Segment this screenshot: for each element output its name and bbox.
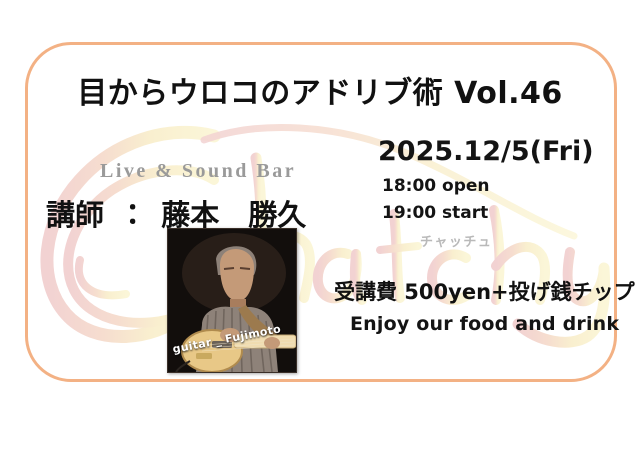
brand-kana-label: チャッチュ xyxy=(420,231,492,250)
venue-tagline: Live & Sound Bar xyxy=(100,160,296,183)
start-time: 19:00 start xyxy=(382,203,488,223)
fee-text: 受講費 500yen+投げ銭チップ xyxy=(334,276,635,306)
lecturer-name: 藤本 勝久 xyxy=(161,198,306,232)
event-date: 2025.12/5(Fri) xyxy=(378,136,594,167)
enjoy-text: Enjoy our food and drink xyxy=(350,313,619,335)
flyer-canvas: 目からウロコのアドリブ術 Vol.46 Live & Sound Bar 講師 … xyxy=(0,0,640,452)
page-title: 目からウロコのアドリブ術 Vol.46 xyxy=(0,68,640,112)
lecturer-label: 講師 xyxy=(46,198,104,232)
open-time: 18:00 open xyxy=(382,176,490,196)
lecturer-separator: ： xyxy=(114,198,151,232)
performer-photo: guitar _ Fujimoto xyxy=(167,228,297,373)
